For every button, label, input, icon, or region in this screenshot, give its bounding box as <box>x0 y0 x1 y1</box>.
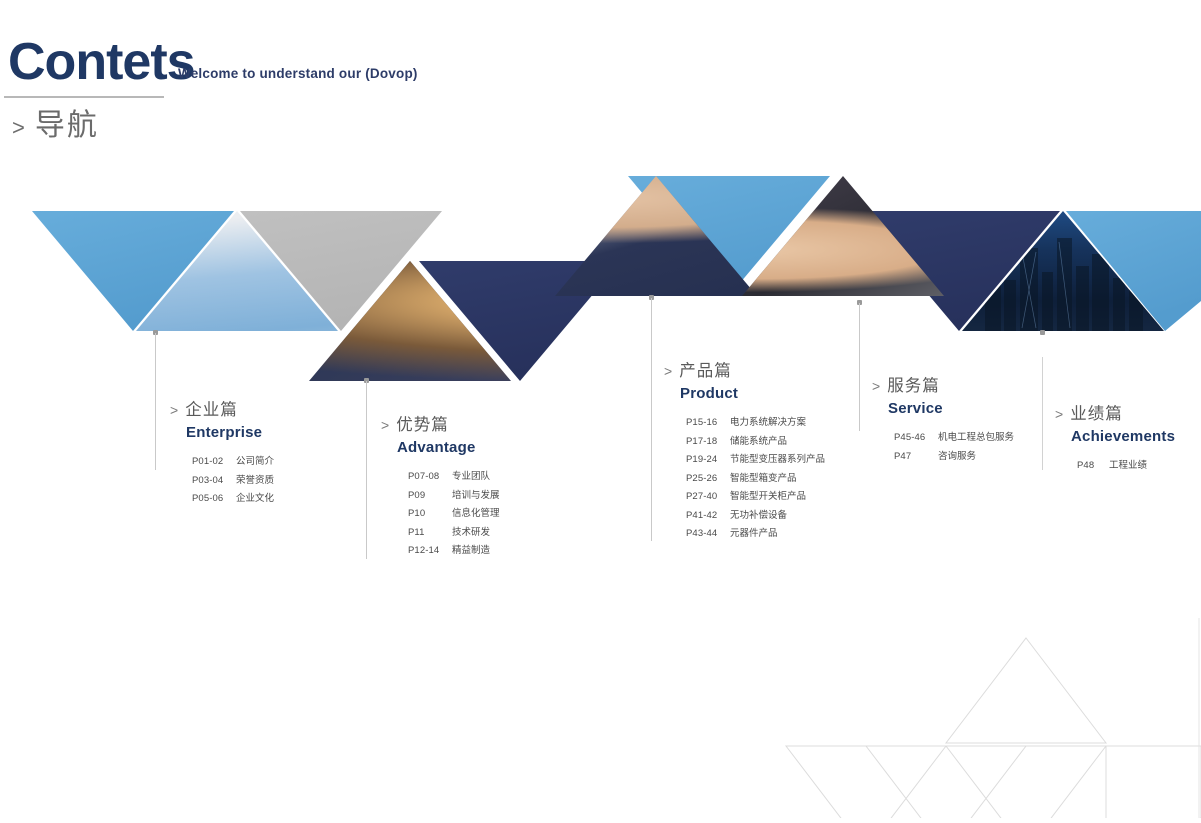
list-item[interactable]: P47 咨询服务 <box>894 448 1014 467</box>
decorative-triangle-outlines <box>761 618 1201 818</box>
triangle-graphic-band <box>0 168 1201 383</box>
section-title-cn: 产品篇 <box>679 357 732 381</box>
list-item[interactable]: P43-44 元器件产品 <box>686 525 825 544</box>
list-item[interactable]: P17-18 储能系统产品 <box>686 433 825 452</box>
section-title-cn: 优势篇 <box>396 411 449 435</box>
item-pages: P05-06 <box>192 490 236 509</box>
item-label: 机电工程总包服务 <box>938 429 1014 448</box>
title-underline <box>4 96 164 98</box>
item-pages: P10 <box>408 505 452 524</box>
section-title-row: > 服务篇 <box>872 372 1014 396</box>
nav-subtitle-label: 导航 <box>35 100 99 144</box>
item-pages: P07-08 <box>408 468 452 487</box>
item-pages: P15-16 <box>686 414 730 433</box>
list-item[interactable]: P41-42 无功补偿设备 <box>686 507 825 526</box>
item-label: 节能型变压器系列产品 <box>730 451 825 470</box>
item-pages: P43-44 <box>686 525 730 544</box>
item-label: 技术研发 <box>452 524 490 543</box>
chevron-right-icon: > <box>12 115 25 141</box>
list-item[interactable]: P01-02 公司简介 <box>192 453 274 472</box>
page-header: Contets Welcome to understand our (Dovop… <box>0 0 1201 160</box>
section-item-list: P07-08 专业团队 P09 培训与发展 P10 信息化管理 P11 技术研发… <box>408 468 500 561</box>
list-item[interactable]: P27-40 智能型开关柜产品 <box>686 488 825 507</box>
item-label: 智能型开关柜产品 <box>730 488 806 507</box>
item-pages: P47 <box>894 448 938 467</box>
chevron-right-icon: > <box>664 363 672 379</box>
list-item[interactable]: P03-04 荣誉资质 <box>192 472 274 491</box>
list-item[interactable]: P25-26 智能型箱变产品 <box>686 470 825 489</box>
item-label: 工程业绩 <box>1109 457 1147 476</box>
list-item[interactable]: P48 工程业绩 <box>1077 457 1175 476</box>
item-pages: P27-40 <box>686 488 730 507</box>
connector-line <box>859 303 860 431</box>
connector-line <box>651 298 652 541</box>
item-pages: P45-46 <box>894 429 938 448</box>
section-item-list: P45-46 机电工程总包服务 P47 咨询服务 <box>894 429 1014 466</box>
connector-line <box>366 381 367 559</box>
list-item[interactable]: P11 技术研发 <box>408 524 500 543</box>
item-label: 培训与发展 <box>452 487 500 506</box>
list-item[interactable]: P07-08 专业团队 <box>408 468 500 487</box>
section-title-en: Service <box>888 400 1014 417</box>
item-pages: P09 <box>408 487 452 506</box>
item-label: 智能型箱变产品 <box>730 470 797 489</box>
chevron-right-icon: > <box>872 378 880 394</box>
section-title-en: Achievements <box>1071 428 1175 445</box>
nav-subtitle: > 导航 <box>12 100 99 144</box>
connector-line <box>155 333 156 470</box>
item-pages: P19-24 <box>686 451 730 470</box>
welcome-tagline: Welcome to understand our (Dovop) <box>178 66 418 81</box>
item-label: 精益制造 <box>452 542 490 561</box>
item-label: 无功补偿设备 <box>730 507 787 526</box>
item-pages: P41-42 <box>686 507 730 526</box>
section-title-row: > 优势篇 <box>381 411 500 435</box>
list-item[interactable]: P09 培训与发展 <box>408 487 500 506</box>
section-item-list: P48 工程业绩 <box>1077 457 1175 476</box>
item-pages: P17-18 <box>686 433 730 452</box>
section-title-row: > 企业篇 <box>170 396 274 420</box>
chevron-right-icon: > <box>381 417 389 433</box>
list-item[interactable]: P45-46 机电工程总包服务 <box>894 429 1014 448</box>
list-item[interactable]: P10 信息化管理 <box>408 505 500 524</box>
list-item[interactable]: P19-24 节能型变压器系列产品 <box>686 451 825 470</box>
chevron-right-icon: > <box>170 402 178 418</box>
list-item[interactable]: P12-14 精益制造 <box>408 542 500 561</box>
item-label: 荣誉资质 <box>236 472 274 491</box>
section-title-cn: 服务篇 <box>887 372 940 396</box>
section-title-en: Product <box>680 385 825 402</box>
item-pages: P25-26 <box>686 470 730 489</box>
page-title: Contets <box>8 36 195 88</box>
section-title-cn: 业绩篇 <box>1070 400 1123 424</box>
section-title-row: > 业绩篇 <box>1055 400 1175 424</box>
item-pages: P01-02 <box>192 453 236 472</box>
item-label: 储能系统产品 <box>730 433 787 452</box>
item-label: 元器件产品 <box>730 525 778 544</box>
item-label: 公司简介 <box>236 453 274 472</box>
item-label: 咨询服务 <box>938 448 976 467</box>
section-title-cn: 企业篇 <box>185 396 238 420</box>
chevron-right-icon: > <box>1055 406 1063 422</box>
list-item[interactable]: P15-16 电力系统解决方案 <box>686 414 825 433</box>
section-title-row: > 产品篇 <box>664 357 825 381</box>
section-title-en: Advantage <box>397 439 500 456</box>
item-pages: P03-04 <box>192 472 236 491</box>
section-title-en: Enterprise <box>186 424 274 441</box>
connector-dot <box>1040 330 1045 335</box>
list-item[interactable]: P05-06 企业文化 <box>192 490 274 509</box>
section-divider <box>1042 357 1043 470</box>
item-pages: P48 <box>1077 457 1109 476</box>
item-label: 专业团队 <box>452 468 490 487</box>
item-pages: P11 <box>408 524 452 543</box>
item-label: 信息化管理 <box>452 505 500 524</box>
item-label: 电力系统解决方案 <box>730 414 806 433</box>
item-pages: P12-14 <box>408 542 452 561</box>
section-item-list: P15-16 电力系统解决方案 P17-18 储能系统产品 P19-24 节能型… <box>686 414 825 544</box>
item-label: 企业文化 <box>236 490 274 509</box>
section-item-list: P01-02 公司简介 P03-04 荣誉资质 P05-06 企业文化 <box>192 453 274 509</box>
